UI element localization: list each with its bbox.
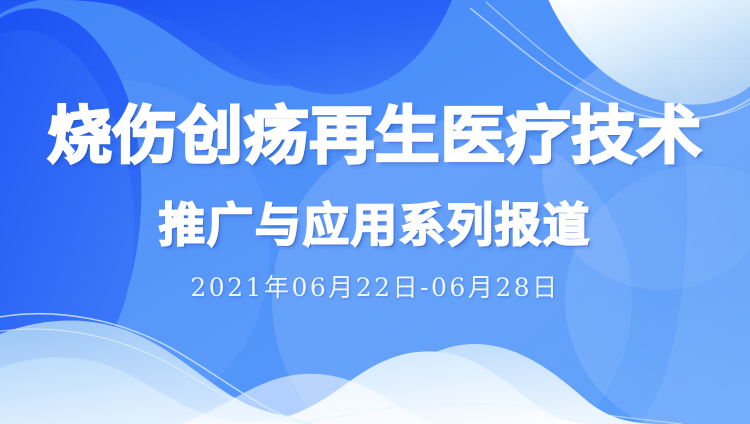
decorative-background [0,0,750,424]
promo-banner: 烧伤创疡再生医疗技术 推广与应用系列报道 2021年06月22日-06月28日 [0,0,750,424]
